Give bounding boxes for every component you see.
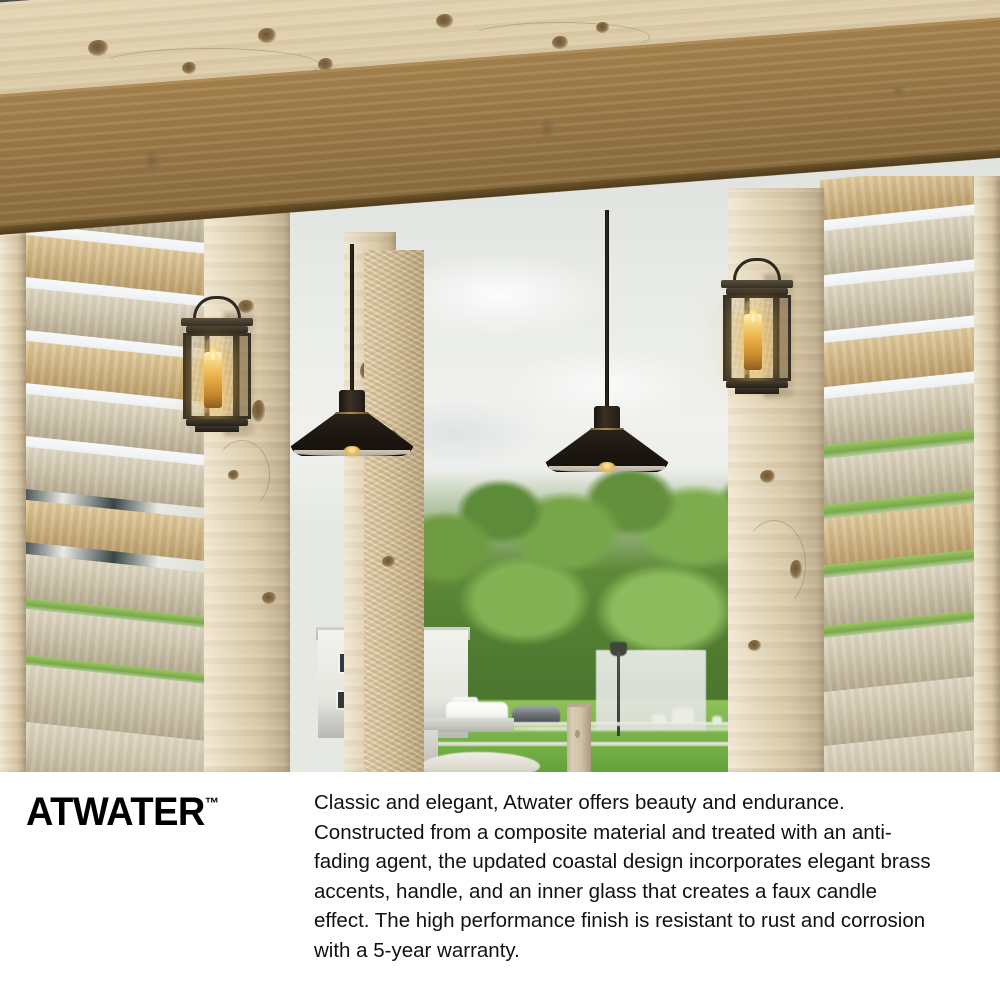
product-description: Classic and elegant, Atwater offers beau…: [314, 788, 934, 965]
wood-knot: [436, 14, 453, 28]
louver-wall-right: [820, 176, 1000, 772]
parked-car: [512, 706, 560, 723]
lantern-handle: [733, 258, 781, 280]
lantern-handle: [193, 296, 241, 318]
wood-knot: [144, 150, 162, 176]
lantern-base: [726, 381, 788, 388]
wood-knot: [88, 40, 108, 56]
wood-knot: [258, 28, 276, 43]
lantern-base-foot: [735, 388, 779, 394]
pendant-cord: [350, 244, 354, 390]
wood-knot: [262, 592, 276, 604]
candle-flame: [749, 308, 757, 322]
louver-wall-left: [0, 196, 215, 772]
lantern-cap: [726, 288, 788, 295]
wood-knot: [760, 470, 775, 483]
pendant-cord: [605, 210, 609, 406]
corner-post-left: [0, 196, 26, 772]
wood-knot: [382, 556, 395, 567]
candle-flame: [209, 346, 217, 360]
corner-post-right: [974, 176, 1000, 772]
wall-lantern-right: [712, 258, 802, 418]
wood-knot: [892, 86, 906, 98]
trademark-symbol: ™: [205, 795, 219, 812]
pendant-bulb-glow: [343, 446, 361, 457]
wood-knot: [748, 640, 761, 651]
faux-candle: [744, 314, 762, 370]
brand-wordmark: ATWATER™: [26, 792, 219, 832]
brand-name: ATWATER: [26, 790, 205, 834]
lantern-top-cap: [721, 280, 793, 288]
wood-knot: [540, 118, 556, 142]
barn-pendant-center: [545, 210, 669, 480]
lantern-base: [186, 419, 248, 426]
atwater-product-poster: ATWATER™ Classic and elegant, Atwater of…: [0, 0, 1000, 1000]
faux-candle: [204, 352, 222, 408]
fence-post-knot: [575, 730, 580, 738]
lantern-cap: [186, 326, 248, 333]
wall-lantern-left: [172, 296, 262, 456]
lantern-top-cap: [181, 318, 253, 326]
fence-post: [567, 703, 591, 772]
barn-pendant-left: [290, 244, 414, 474]
pendant-bulb-glow: [598, 462, 616, 473]
lantern-base-foot: [195, 426, 239, 432]
wood-grain: [742, 520, 806, 610]
product-photo: [0, 0, 1000, 772]
